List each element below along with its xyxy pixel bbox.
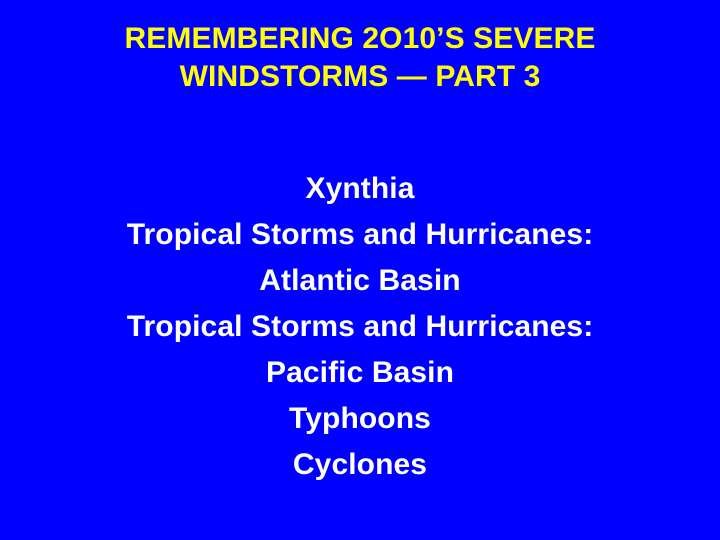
title-line-2: WINDSTORMS — PART 3 xyxy=(0,58,720,96)
body-line-tropical-storms-hurricanes-atlantic-heading: Tropical Storms and Hurricanes: xyxy=(0,212,720,258)
title-line-1: REMEMBERING 2O10’S SEVERE xyxy=(0,20,720,58)
body-line-xynthia: Xynthia xyxy=(0,166,720,212)
body-line-cyclones: Cyclones xyxy=(0,442,720,488)
body-line-atlantic-basin: Atlantic Basin xyxy=(0,258,720,304)
body-line-typhoons: Typhoons xyxy=(0,396,720,442)
body-line-pacific-basin: Pacific Basin xyxy=(0,350,720,396)
body-line-tropical-storms-hurricanes-pacific-heading: Tropical Storms and Hurricanes: xyxy=(0,304,720,350)
slide-body: Xynthia Tropical Storms and Hurricanes: … xyxy=(0,166,720,488)
slide-canvas: REMEMBERING 2O10’S SEVERE WINDSTORMS — P… xyxy=(0,0,720,540)
slide-title: REMEMBERING 2O10’S SEVERE WINDSTORMS — P… xyxy=(0,20,720,96)
